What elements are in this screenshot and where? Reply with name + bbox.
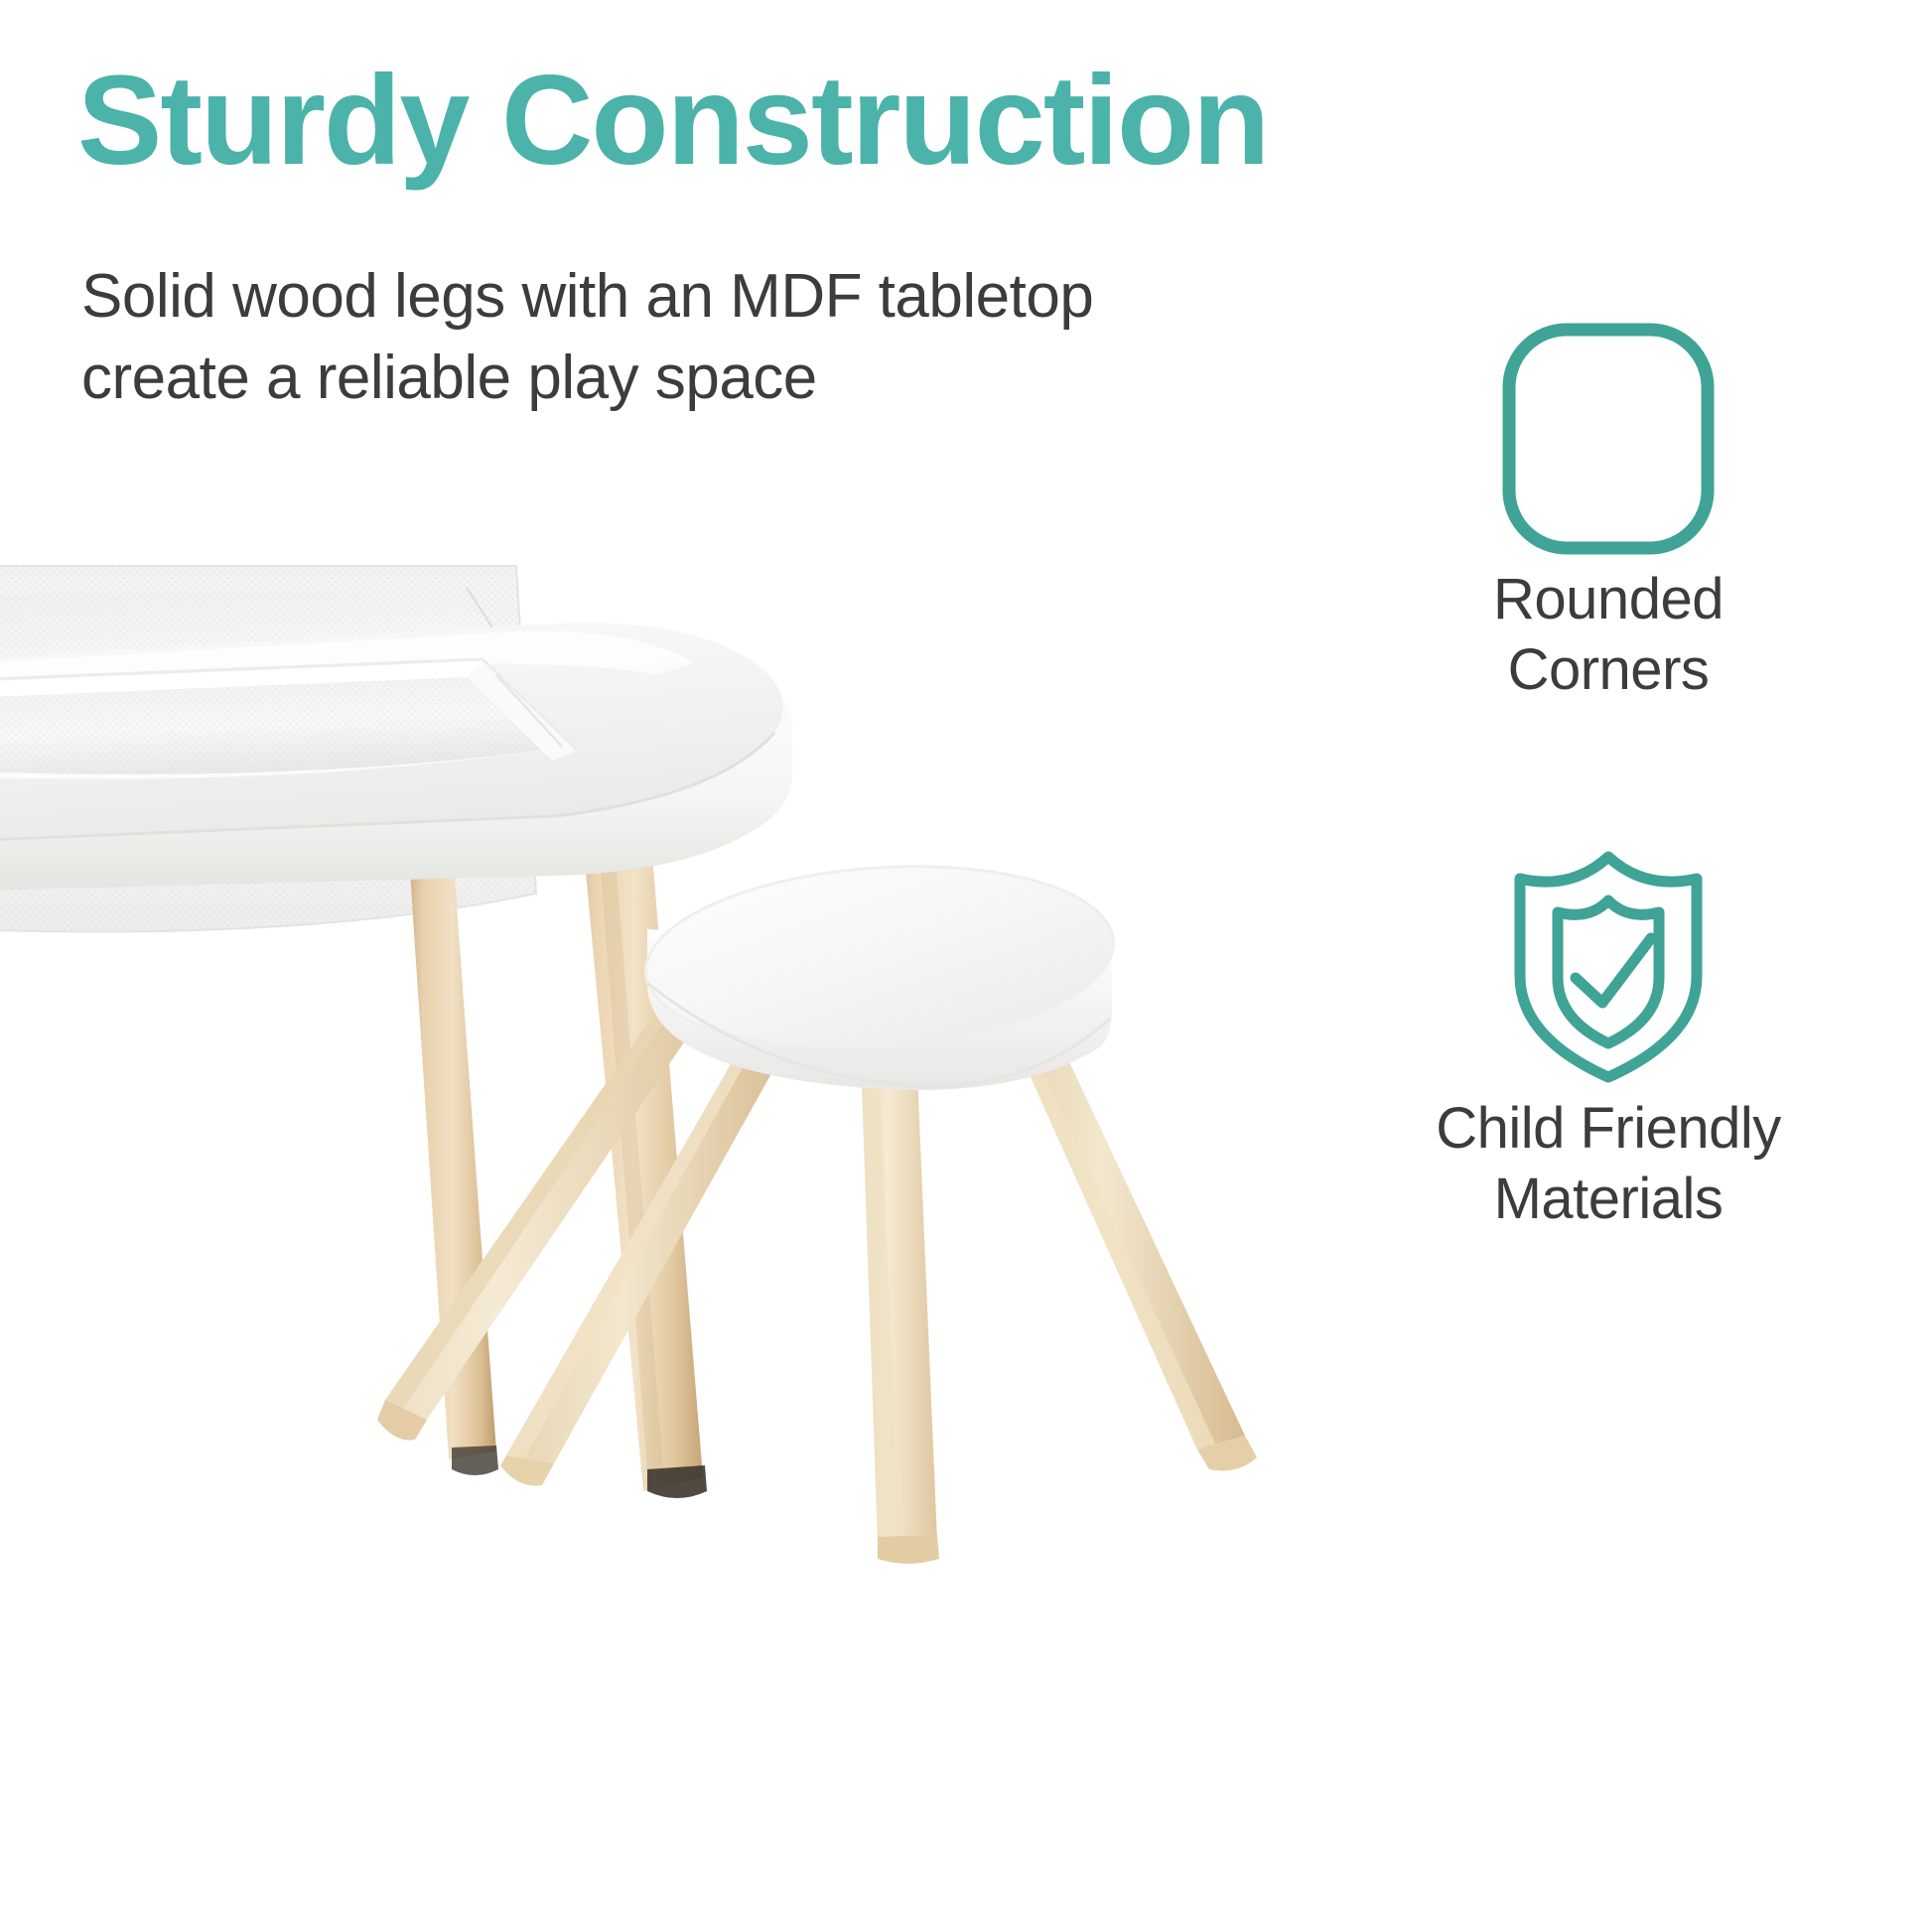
promo-banner: Sturdy Construction Solid wood legs with… [0, 0, 1932, 1932]
product-photo [0, 427, 1320, 1932]
page-title: Sturdy Construction [77, 58, 1268, 185]
feature-child-friendly: Child Friendly Materials [1320, 839, 1896, 1235]
tabletop [0, 622, 792, 892]
shield-check-icon [1320, 839, 1896, 1094]
feature-rounded-corners: Rounded Corners [1320, 318, 1896, 706]
stool-leg-center [860, 1027, 939, 1564]
stool-leg-right [1011, 1033, 1257, 1471]
rounded-square-icon [1320, 318, 1896, 565]
feature-label: Child Friendly Materials [1436, 1096, 1781, 1231]
feature-label: Rounded Corners [1493, 567, 1724, 702]
page-subtitle: Solid wood legs with an MDF tabletop cre… [81, 256, 1253, 419]
